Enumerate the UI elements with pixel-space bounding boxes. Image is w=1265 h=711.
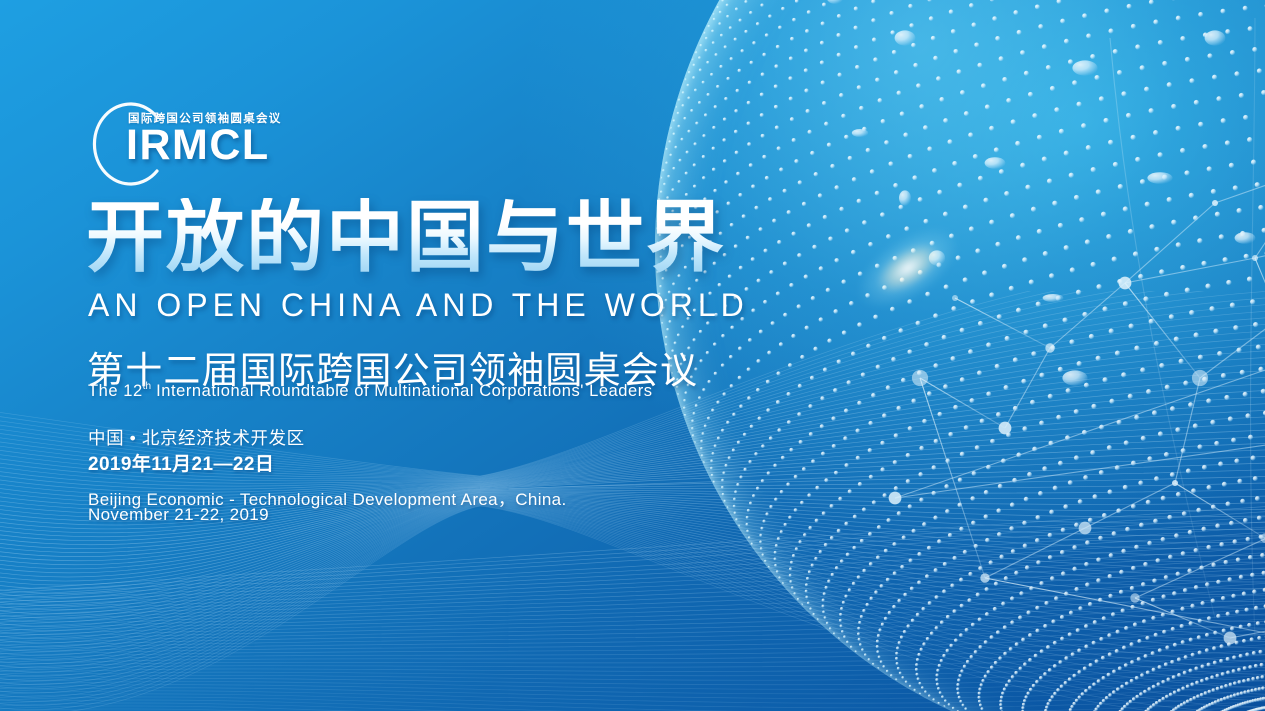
globe-graphic	[655, 0, 1265, 711]
subtitle-ordinal-suffix: th	[143, 381, 151, 392]
subtitle-english: The 12th International Roundtable of Mul…	[88, 381, 653, 401]
globe-sphere	[655, 0, 1265, 711]
globe-atmosphere-edge	[655, 0, 1265, 711]
sun-flare-icon	[726, 96, 1089, 441]
logo-wordmark: IRMCL	[126, 124, 270, 167]
page-title-english: AN OPEN CHINA AND THE WORLD	[88, 287, 749, 324]
dotted-globe-icon	[655, 0, 1265, 711]
venue-chinese: 中国 • 北京经济技术开发区	[88, 425, 305, 450]
irmcl-logo: 国际跨国公司领袖圆桌会议 IRMCL	[88, 96, 388, 196]
subtitle-english-prefix: The 12	[88, 382, 143, 400]
subtitle-english-rest: International Roundtable of Multinationa…	[151, 382, 653, 400]
date-english: November 21-22, 2019	[88, 505, 269, 525]
conference-banner: 国际跨国公司领袖圆桌会议 IRMCL 开放的中国与世界 AN OPEN CHIN…	[0, 0, 1265, 711]
date-chinese: 2019年11月21—22日	[88, 449, 274, 476]
page-title-chinese: 开放的中国与世界	[86, 198, 726, 276]
